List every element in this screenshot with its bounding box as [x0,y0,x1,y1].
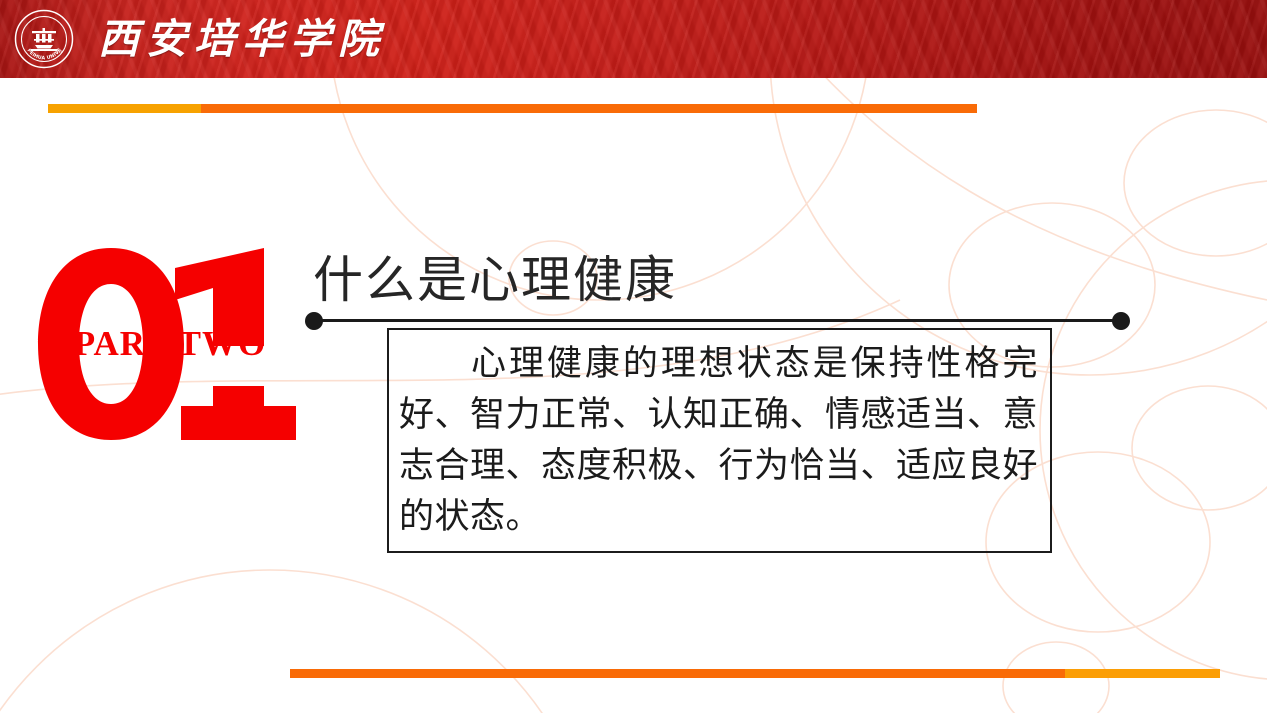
decor-circle-10 [0,570,600,713]
svg-text:1928: 1928 [54,50,63,54]
accent-rule-bottom-right [1065,669,1220,678]
decor-circle-3 [1124,110,1267,256]
slide-canvas: 西安培华学院 XI'AN PEIHUA UNIVERSITY 1928 [0,0,1267,713]
university-seal-icon: 西安培华学院 XI'AN PEIHUA UNIVERSITY 1928 [14,9,74,69]
header-band: 西安培华学院 XI'AN PEIHUA UNIVERSITY 1928 [0,0,1267,78]
decor-circle-6 [1040,180,1267,680]
header-inner: 西安培华学院 XI'AN PEIHUA UNIVERSITY 1928 [0,0,1267,78]
decor-circle-8 [1132,386,1267,510]
page-title: 什么是心理健康 [313,252,677,308]
definition-text: 心理健康的理想状态是保持性格完好、智力正常、认知正确、情感适当、意志合理、态度积… [389,330,1050,543]
accent-rule-top-right [201,104,977,113]
connector-rule [315,319,1120,322]
university-name: 西安培华学院 [98,7,386,71]
definition-text-box: 心理健康的理想状态是保持性格完好、智力正常、认知正确、情感适当、意志合理、态度积… [387,328,1052,553]
connector-dot-right [1112,312,1130,330]
accent-rule-bottom-left [290,669,1065,678]
part-label: PART TWO [45,326,295,361]
accent-rule-top-left [48,104,201,113]
